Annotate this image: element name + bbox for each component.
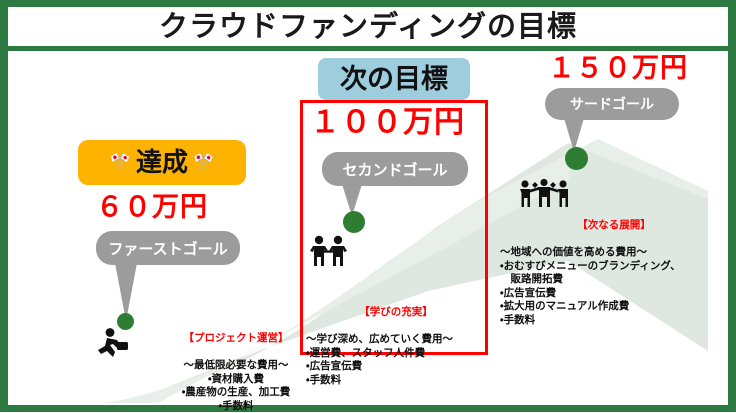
- third-goal-detail-heading: 【次なる展開】: [500, 219, 728, 233]
- second-goal-amount: １００万円: [310, 108, 465, 138]
- second-goal-detail-lines: 〜学び深め、広めていく費用〜 ・運営費、スタッフ人件費 ・広告宣伝費 ・手数料: [306, 333, 453, 386]
- first-goal-detail: 【プロジェクト運営】 〜最低限必要な費用〜 ・資材購入費 ・農産物の生産、加工費…: [148, 318, 324, 413]
- crossed-flags-icon-right: 🎌: [193, 154, 214, 171]
- crossed-flags-icon-left: 🎌: [110, 154, 131, 171]
- third-goal-dot-marker: [565, 147, 588, 170]
- first-goal-pill-label: ファーストゴール: [108, 238, 227, 259]
- page-title: クラウドファンディングの目標: [159, 12, 577, 41]
- second-goal-detail-heading: 【学びの充実】: [306, 306, 486, 320]
- second-goal-pill-label: セカンドゴール: [342, 159, 447, 180]
- second-goal-dot-marker: [343, 211, 365, 233]
- third-goal-pill-label: サードゴール: [570, 94, 654, 114]
- running-person-icon: [95, 327, 133, 359]
- first-goal-detail-heading: 【プロジェクト運営】: [148, 332, 324, 346]
- first-goal-achieved-badge: 🎌 達成 🎌: [78, 140, 246, 185]
- third-goal-detail-lines: 〜地域への価値を高める費用〜 ・おむすびメニューのブランディング、 販路開拓費 …: [500, 246, 681, 326]
- first-goal-amount: ６０万円: [96, 194, 208, 221]
- second-goal-next-badge: 次の目標: [318, 58, 470, 100]
- frame-right-border: [728, 0, 736, 412]
- third-goal-pill: サードゴール: [545, 88, 679, 120]
- three-people-group-icon: [518, 178, 570, 208]
- frame-top-border: [0, 0, 736, 7]
- frame-title-divider: [8, 46, 728, 51]
- first-goal-achieved-label: 達成: [136, 150, 188, 176]
- infographic-canvas: クラウドファンディングの目標 🎌 達成 🎌 ６０万円 ファーストゴール 【プロジ…: [0, 0, 736, 412]
- first-goal-pill: ファーストゴール: [96, 231, 240, 265]
- third-goal-amount: １５０万円: [548, 55, 688, 82]
- first-goal-detail-lines: 〜最低限必要な費用〜 ・資材購入費 ・農産物の生産、加工費 ・手数料: [182, 359, 291, 412]
- two-people-holding-hands-icon: [308, 235, 350, 267]
- second-goal-pill: セカンドゴール: [322, 152, 468, 186]
- second-goal-detail: 【学びの充実】 〜学び深め、広めていく費用〜 ・運営費、スタッフ人件費 ・広告宣…: [306, 292, 486, 387]
- frame-left-border: [0, 0, 8, 412]
- third-goal-detail: 【次なる展開】 〜地域への価値を高める費用〜 ・おむすびメニューのブランディング…: [500, 205, 728, 328]
- frame-bottom-border: [0, 405, 736, 412]
- title-bar: クラウドファンディングの目標: [8, 7, 728, 46]
- second-goal-next-label: 次の目標: [340, 66, 448, 93]
